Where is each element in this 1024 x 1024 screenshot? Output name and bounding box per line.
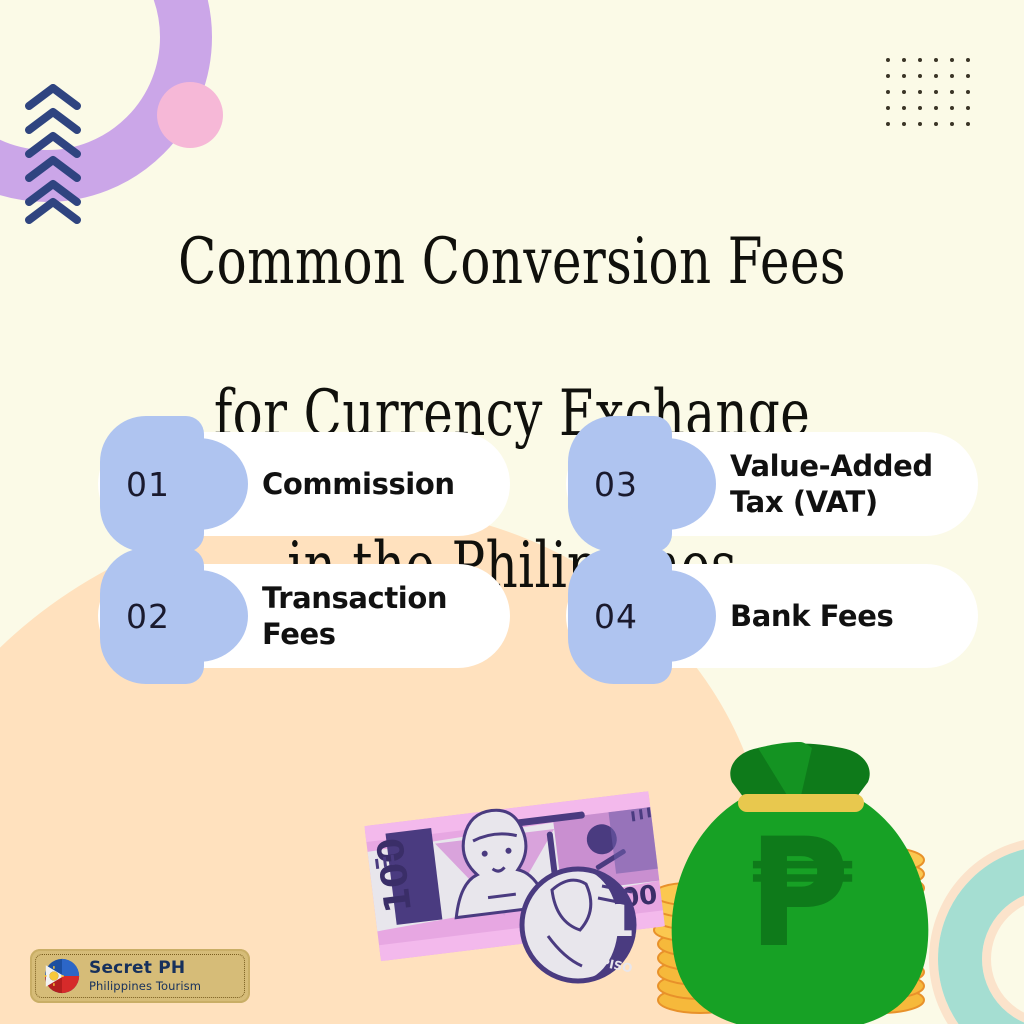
logo-subtitle: Philippines Tourism bbox=[89, 980, 201, 992]
chevron-arrows-icon bbox=[24, 84, 82, 224]
dot-grid-decoration bbox=[886, 58, 982, 138]
fee-number: 04 bbox=[568, 548, 708, 684]
fee-row-2: 02 Transaction Fees 04 Bank Fees bbox=[98, 564, 978, 668]
fee-number-badge: 02 bbox=[100, 548, 236, 684]
fee-number-badge: 01 bbox=[100, 416, 236, 552]
logo-text-block: Secret PH Philippines Tourism bbox=[89, 960, 201, 992]
fee-row-1: 01 Commission 03 Value-Added Tax (VAT) bbox=[98, 432, 978, 536]
fee-item-03[interactable]: 03 Value-Added Tax (VAT) bbox=[566, 432, 978, 536]
fee-label: Value-Added Tax (VAT) bbox=[730, 448, 958, 520]
fee-label: Bank Fees bbox=[730, 598, 958, 634]
fee-number-badge: 04 bbox=[568, 548, 704, 684]
coin-stack-right bbox=[799, 847, 924, 1022]
title-line-1: Common Conversion Fees bbox=[159, 224, 864, 300]
fee-number: 03 bbox=[568, 416, 708, 552]
fee-number: 02 bbox=[100, 548, 240, 684]
fee-item-04[interactable]: 04 Bank Fees bbox=[566, 564, 978, 668]
fee-item-02[interactable]: 02 Transaction Fees bbox=[98, 564, 510, 668]
fee-list: 01 Commission 03 Value-Added Tax (VAT) 0… bbox=[98, 432, 978, 696]
logo-title: Secret PH bbox=[89, 960, 201, 978]
teal-ring-decoration bbox=[938, 846, 1024, 1024]
fee-number-badge: 03 bbox=[568, 416, 704, 552]
brand-logo[interactable]: Secret PH Philippines Tourism bbox=[30, 949, 250, 1003]
fee-label: Transaction Fees bbox=[262, 580, 490, 652]
infographic-poster: Common Conversion Fees for Currency Exch… bbox=[0, 0, 1024, 1024]
pink-circle-decoration bbox=[157, 82, 223, 148]
fee-number: 01 bbox=[100, 416, 240, 552]
secret-ph-logo-icon bbox=[44, 958, 80, 994]
fee-item-01[interactable]: 01 Commission bbox=[98, 432, 510, 536]
fee-label: Commission bbox=[262, 466, 490, 502]
